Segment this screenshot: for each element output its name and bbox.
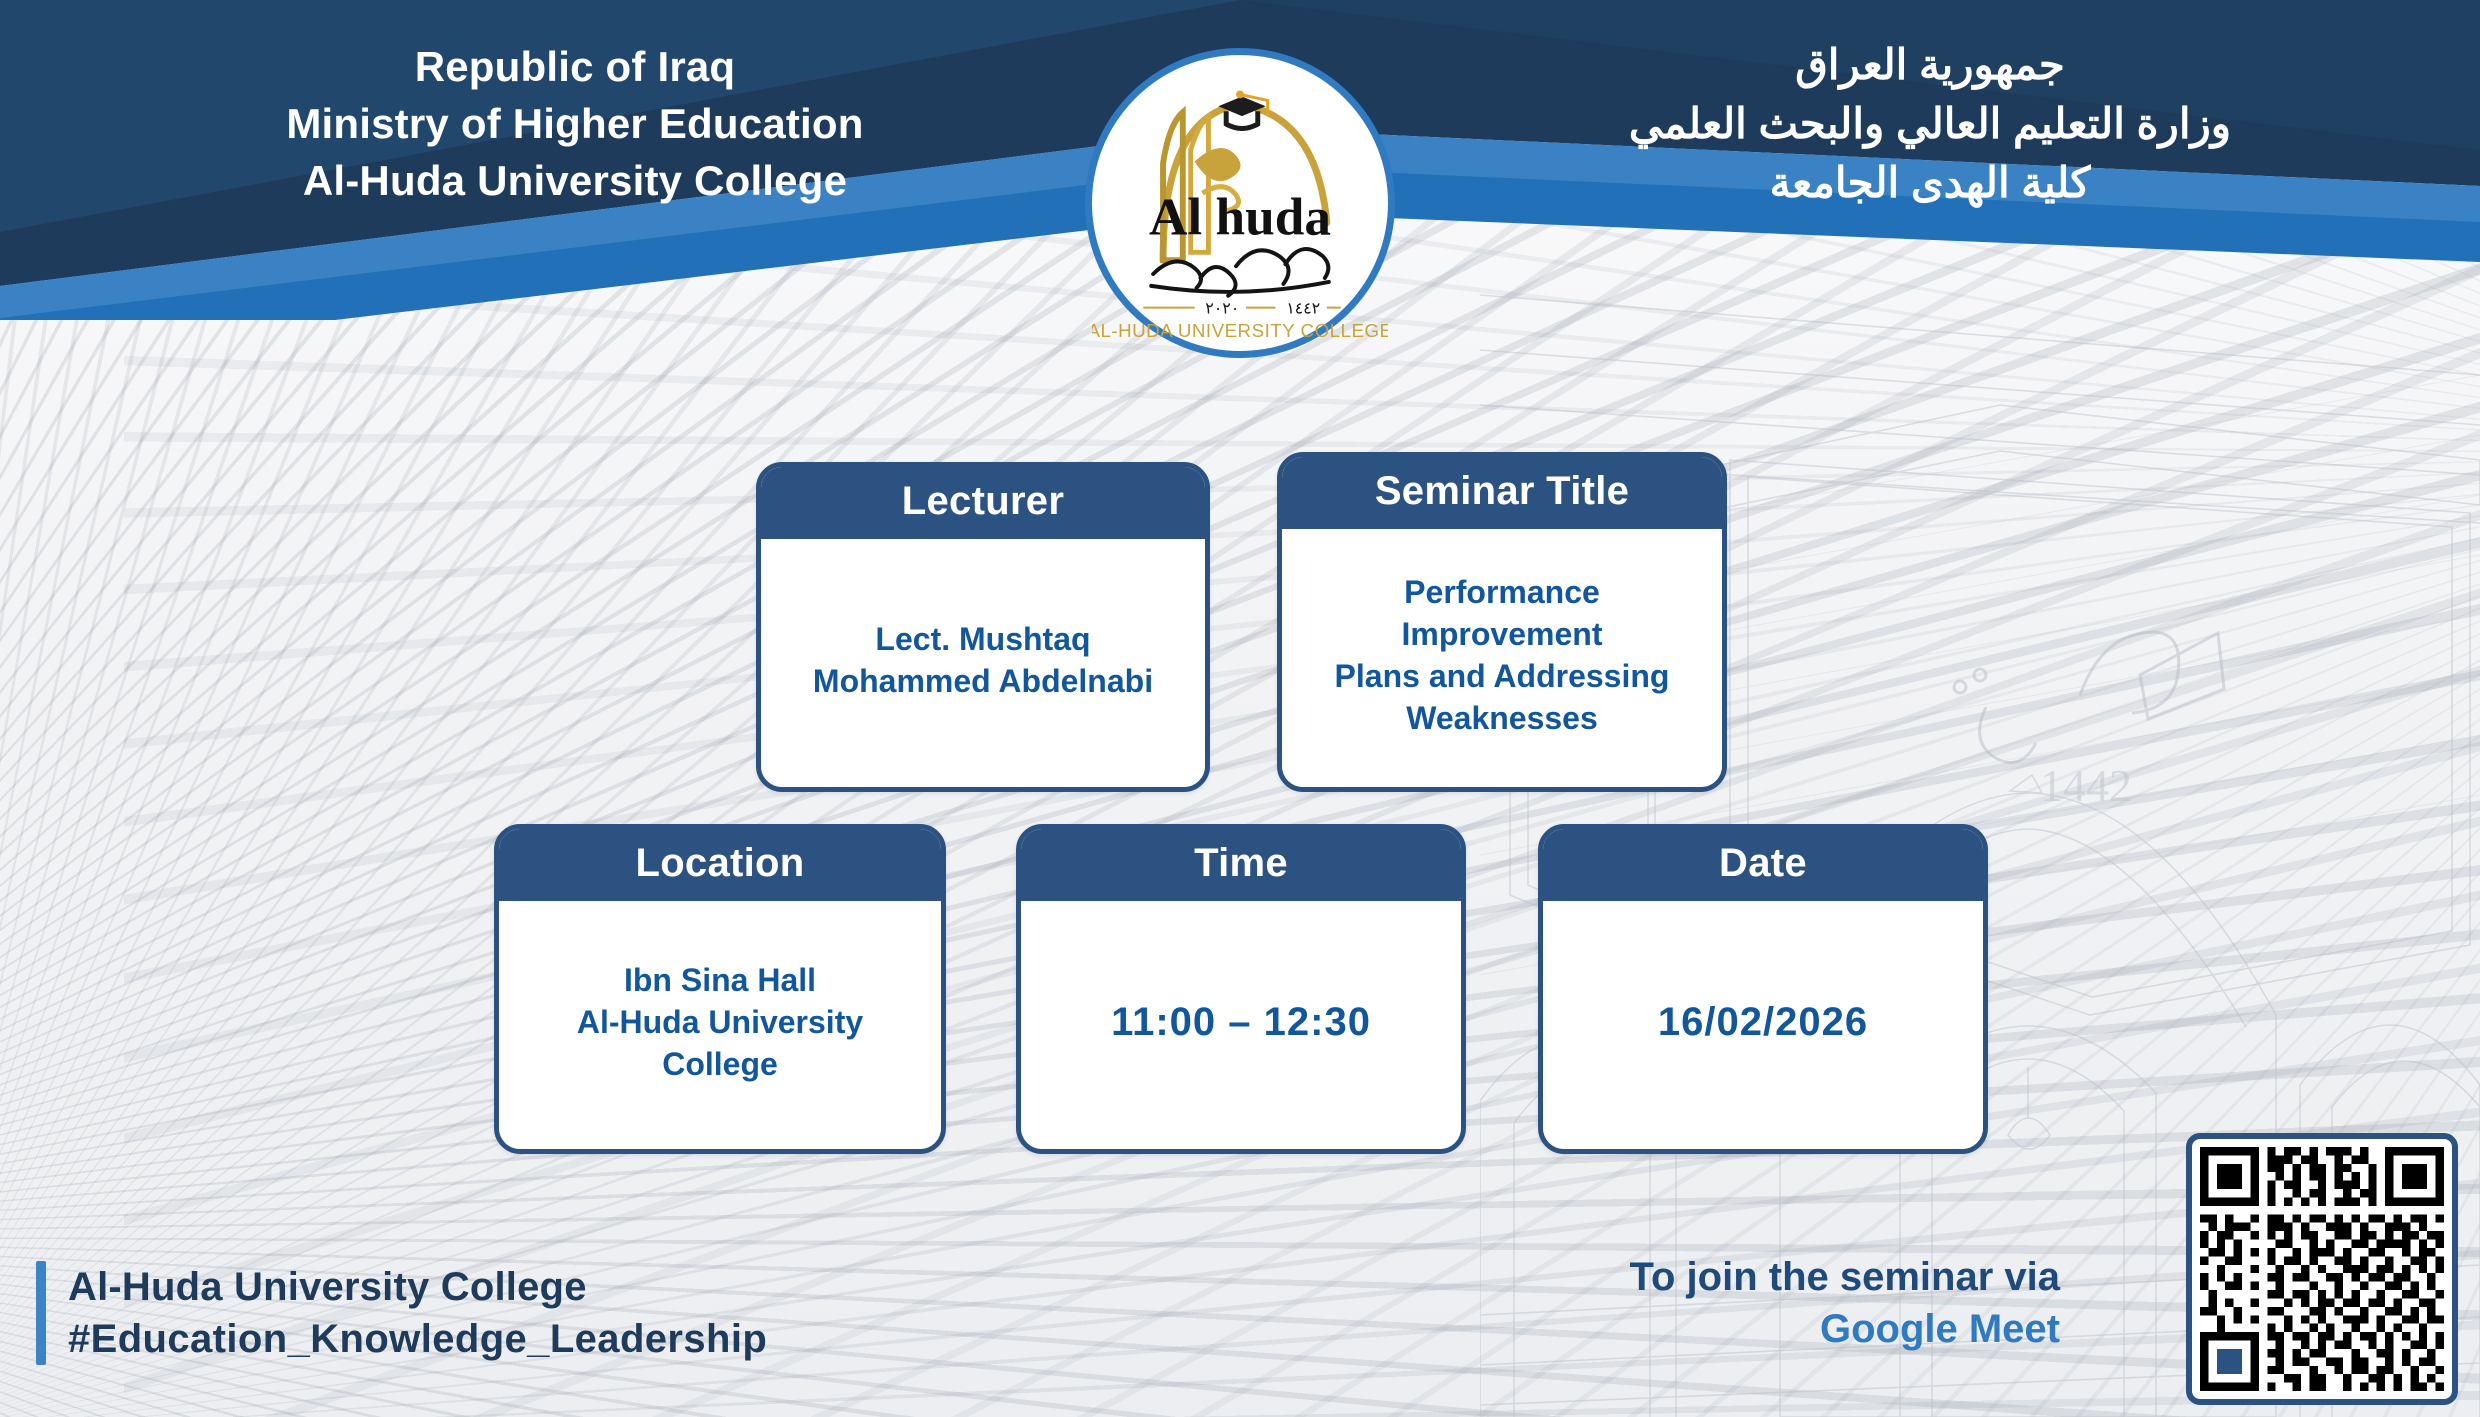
- card-date: Date 16/02/2026: [1538, 824, 1988, 1154]
- header-arabic-line-1: جمهورية العراق: [1530, 36, 2330, 95]
- footer-hashtag: #Education_Knowledge_Leadership: [68, 1313, 767, 1365]
- card-lecturer: Lecturer Lect. Mushtaq Mohammed Abdelnab…: [756, 462, 1210, 792]
- header-title-arabic: جمهورية العراق وزارة التعليم العالي والب…: [1530, 36, 2330, 212]
- logo-year-gregorian: ٢٠٢٠: [1205, 301, 1239, 318]
- logo-wordmark: Al huda: [1149, 188, 1331, 247]
- qr-code[interactable]: [2186, 1133, 2458, 1405]
- card-time-title: Time: [1021, 829, 1461, 901]
- seminar-poster: 1442: [0, 0, 2480, 1417]
- header-english-line-1: Republic of Iraq: [175, 38, 975, 95]
- card-lecturer-title: Lecturer: [761, 467, 1205, 539]
- footer-branding: Al-Huda University College #Education_Kn…: [36, 1261, 767, 1365]
- card-location-body: Ibn Sina Hall Al-Huda University College: [499, 901, 941, 1149]
- join-line-1: To join the seminar via: [1630, 1251, 2060, 1303]
- card-seminar-value: Performance Improvement Plans and Addres…: [1300, 571, 1704, 740]
- card-location-title: Location: [499, 829, 941, 901]
- join-line-2: Google Meet: [1630, 1303, 2060, 1355]
- card-date-value: 16/02/2026: [1658, 996, 1868, 1049]
- card-date-title: Date: [1543, 829, 1983, 901]
- join-instructions: To join the seminar via Google Meet: [1630, 1251, 2060, 1355]
- card-lecturer-value: Lect. Mushtaq Mohammed Abdelnabi: [813, 618, 1153, 702]
- footer-college-name: Al-Huda University College: [68, 1261, 767, 1313]
- card-location: Location Ibn Sina Hall Al-Huda Universit…: [494, 824, 946, 1154]
- card-time: Time 11:00 – 12:30: [1016, 824, 1466, 1154]
- card-seminar-body: Performance Improvement Plans and Addres…: [1282, 529, 1722, 787]
- header-english-line-3: Al-Huda University College: [175, 152, 975, 209]
- logo-artwork: Al huda ٢٠٢٠ ١٤٤٢ AL-HUDA UNIVERSITY COL…: [1092, 55, 1388, 351]
- card-time-value: 11:00 – 12:30: [1111, 996, 1371, 1049]
- card-seminar-title-header: Seminar Title: [1282, 457, 1722, 529]
- card-date-body: 16/02/2026: [1543, 901, 1983, 1149]
- logo-year-hijri: ١٤٤٢: [1286, 301, 1320, 318]
- header-title-english: Republic of Iraq Ministry of Higher Educ…: [175, 38, 975, 209]
- header-english-line-2: Ministry of Higher Education: [175, 95, 975, 152]
- card-location-value: Ibn Sina Hall Al-Huda University College: [577, 959, 863, 1086]
- footer-text: Al-Huda University College #Education_Kn…: [68, 1261, 767, 1365]
- university-logo: Al huda ٢٠٢٠ ١٤٤٢ AL-HUDA UNIVERSITY COL…: [1085, 48, 1395, 358]
- card-time-body: 11:00 – 12:30: [1021, 901, 1461, 1149]
- card-seminar-title: Seminar Title Performance Improvement Pl…: [1277, 452, 1727, 792]
- header-arabic-line-2: وزارة التعليم العالي والبحث العلمي: [1530, 95, 2330, 154]
- card-lecturer-body: Lect. Mushtaq Mohammed Abdelnabi: [761, 539, 1205, 787]
- header-arabic-line-3: كلية الهدى الجامعة: [1530, 154, 2330, 213]
- footer-accent-bar: [36, 1261, 46, 1365]
- logo-caption: AL-HUDA UNIVERSITY COLLEGE: [1092, 320, 1388, 341]
